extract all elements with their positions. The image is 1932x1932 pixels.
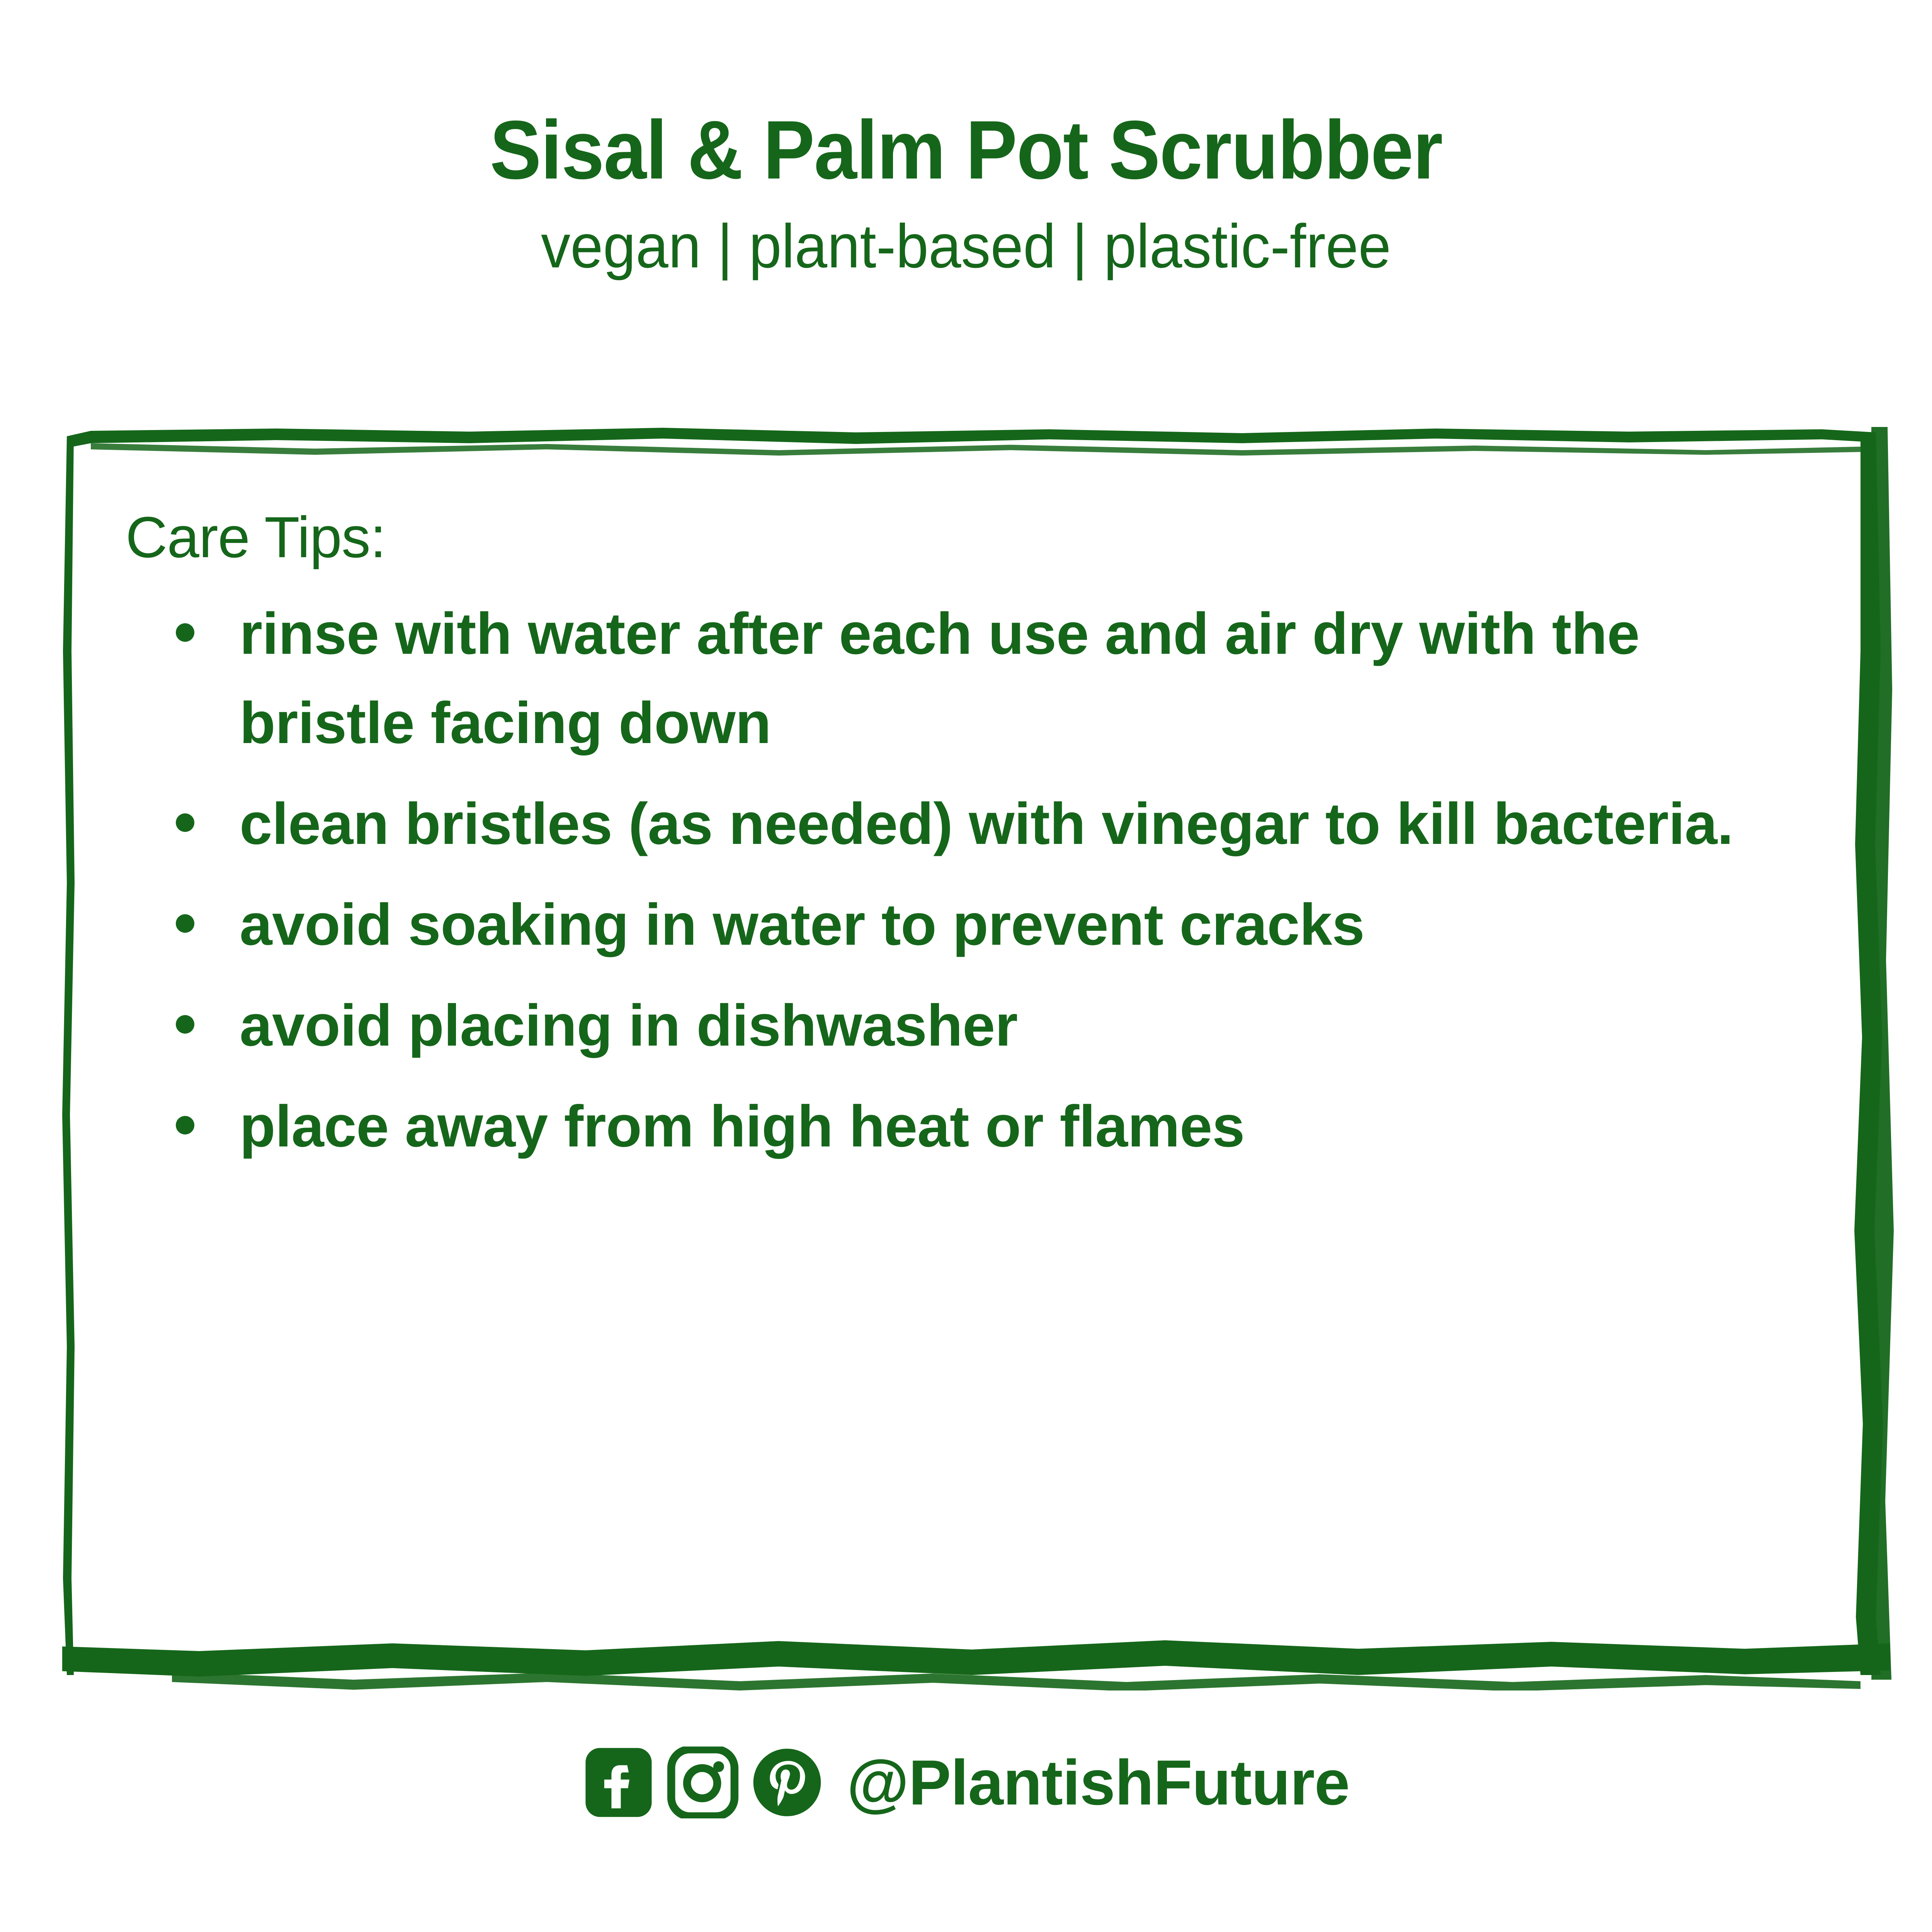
list-item: place away from high heat or flames — [172, 1082, 1804, 1171]
header: Sisal & Palm Pot Scrubber vegan | plant-… — [0, 0, 1932, 277]
care-tips-content: Care Tips: rinse with water after each u… — [68, 431, 1868, 1665]
bullet-icon — [176, 813, 194, 832]
care-tips-card: Care Tips: rinse with water after each u… — [68, 431, 1868, 1665]
bullet-icon — [176, 914, 194, 933]
care-tips-heading: Care Tips: — [126, 508, 1810, 566]
list-item-label: place away from high heat or flames — [240, 1094, 1245, 1159]
list-item-label: avoid placing in dishwasher — [240, 993, 1018, 1058]
list-item: avoid placing in dishwasher — [172, 981, 1804, 1070]
list-item-label: rinse with water after each use and air … — [240, 601, 1639, 756]
facebook-icon[interactable] — [583, 1747, 655, 1818]
page-title: Sisal & Palm Pot Scrubber — [68, 0, 1864, 191]
social-icon-group — [583, 1747, 823, 1818]
social-footer: @PlantishFuture — [0, 1747, 1932, 1818]
bullet-icon — [176, 623, 194, 642]
page-subtitle: vegan | plant-based | plastic-free — [48, 191, 1884, 277]
bullet-icon — [176, 1015, 194, 1034]
list-item: rinse with water after each use and air … — [172, 589, 1804, 768]
list-item-label: clean bristles (as needed) with vinegar … — [240, 791, 1733, 857]
list-item: avoid soaking in water to prevent cracks — [172, 880, 1804, 969]
bullet-icon — [176, 1116, 194, 1134]
list-item-label: avoid soaking in water to prevent cracks — [240, 892, 1364, 957]
instagram-icon[interactable] — [667, 1747, 739, 1818]
care-tips-list: rinse with water after each use and air … — [126, 566, 1810, 1171]
pinterest-icon[interactable] — [751, 1747, 823, 1818]
list-item: clean bristles (as needed) with vinegar … — [172, 779, 1804, 869]
social-handle[interactable]: @PlantishFuture — [847, 1751, 1350, 1815]
